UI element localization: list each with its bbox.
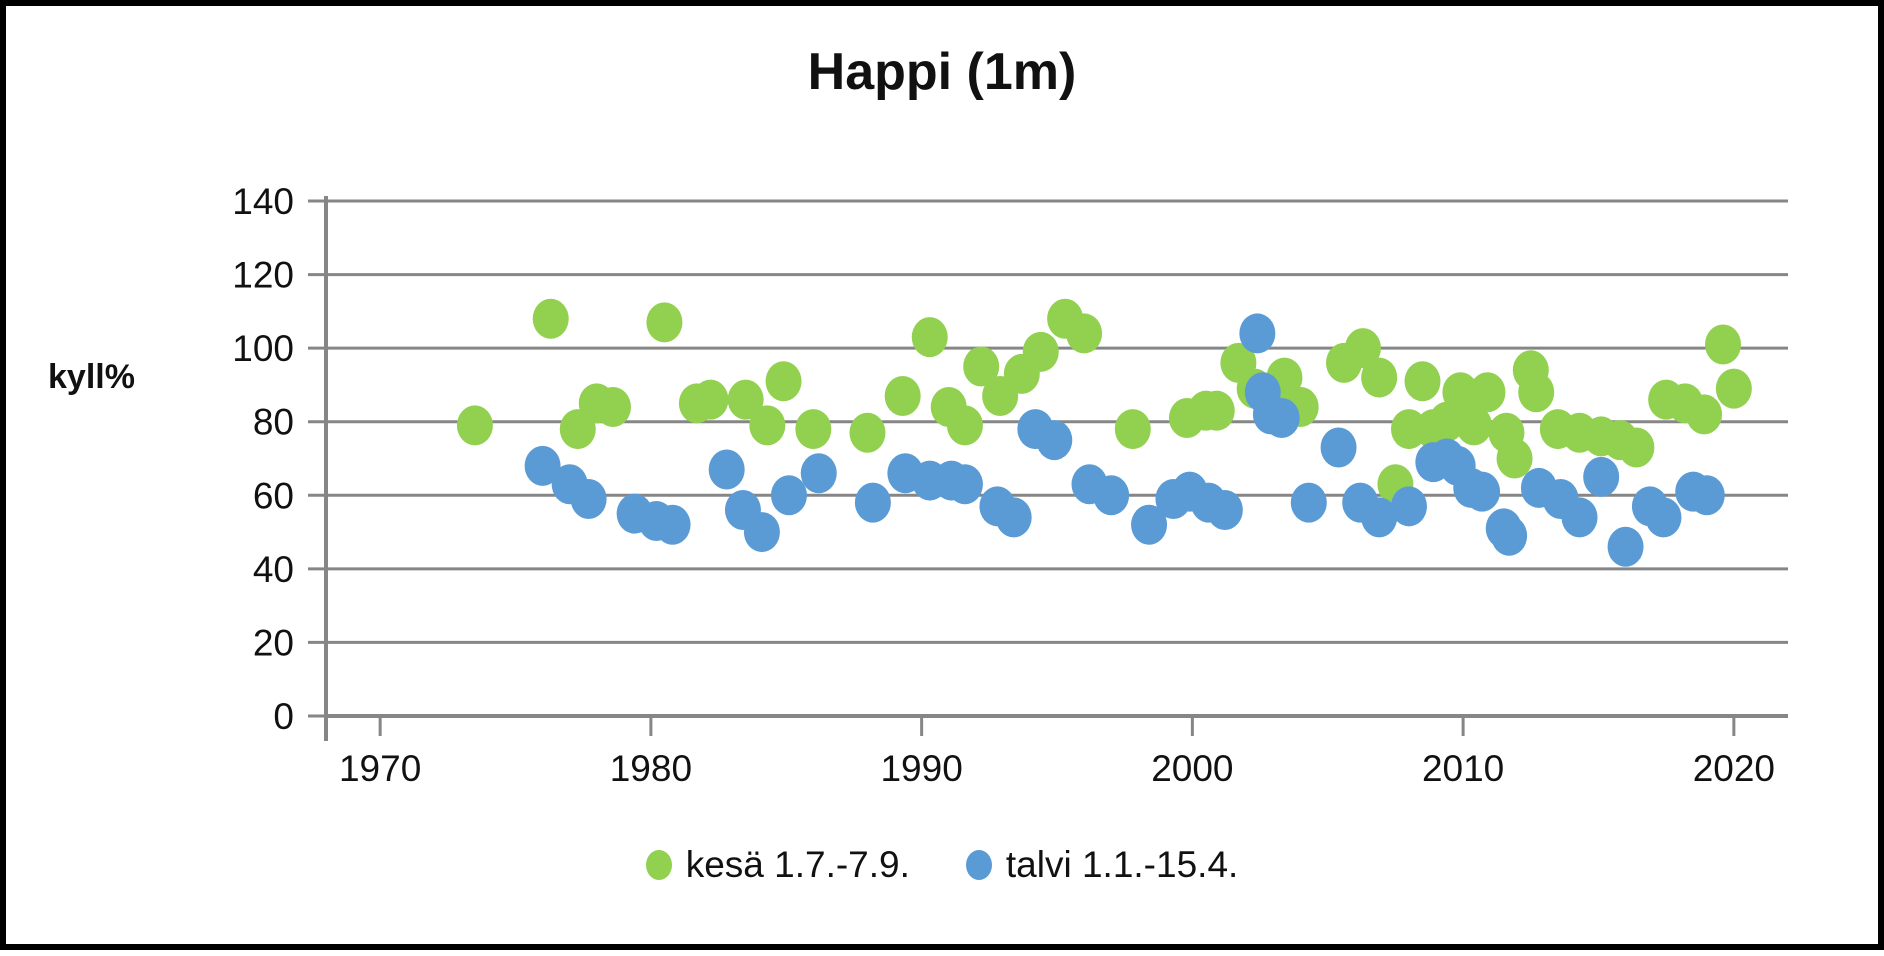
data-point [1093,475,1129,515]
data-point [1645,497,1681,537]
x-tick-labels: 197019801990200020102020 [339,748,1775,789]
legend-entry-kesa[interactable]: kesä 1.7.-7.9. [646,844,910,886]
data-point [947,405,983,445]
data-point [1405,361,1441,401]
data-point [1066,313,1102,353]
data-point [849,413,885,453]
data-point [709,450,745,490]
data-point [1321,427,1357,467]
x-tick-label-1970: 1970 [339,748,421,789]
data-point [1583,457,1619,497]
x-tick-label-2010: 2010 [1422,748,1504,789]
data-point [1239,313,1275,353]
data-point [1686,394,1722,434]
data-point [1562,497,1598,537]
legend-entry-talvi[interactable]: talvi 1.1.-15.4. [966,844,1238,886]
data-point [1361,358,1397,398]
data-point [1391,486,1427,526]
data-point [1497,439,1533,479]
y-tick-label-100: 100 [232,328,294,369]
data-point [1469,372,1505,412]
chart-container: Happi (1m) kyll% 020406080100120140 1970… [0,0,1884,950]
data-point [885,376,921,416]
data-point [1608,527,1644,567]
data-point [1036,420,1072,460]
y-tick-label-0: 0 [273,696,294,737]
x-tick-label-2020: 2020 [1693,748,1775,789]
data-point [912,317,948,357]
data-point [1291,483,1327,523]
data-point [1705,324,1741,364]
data-point [766,361,802,401]
data-point [801,453,837,493]
data-point [1464,472,1500,512]
data-point [771,475,807,515]
data-point [571,479,607,519]
y-tick-labels: 020406080100120140 [232,181,294,737]
x-tick-label-1990: 1990 [880,748,962,789]
x-axis [326,716,1788,736]
data-point [1491,516,1527,556]
x-tick-label-1980: 1980 [610,748,692,789]
data-point [1199,391,1235,431]
legend-label-talvi: talvi 1.1.-15.4. [1006,844,1238,886]
data-point [744,512,780,552]
data-point [595,387,631,427]
legend-marker-talvi-icon [966,850,992,880]
data-point [1023,332,1059,372]
data-point [749,405,785,445]
data-point [1618,427,1654,467]
data-point [646,302,682,342]
data-point [1518,372,1554,412]
data-point [855,483,891,523]
y-tick-label-80: 80 [253,402,294,443]
data-point [947,464,983,504]
data-point [1264,398,1300,438]
scatter-plot-area: 020406080100120140 197019801990200020102… [6,6,1884,956]
x-tick-label-2000: 2000 [1151,748,1233,789]
chart-legend: kesä 1.7.-7.9. talvi 1.1.-15.4. [6,844,1878,886]
data-point [1207,490,1243,530]
data-point [692,380,728,420]
data-points [457,299,1752,567]
y-tick-label-60: 60 [253,475,294,516]
data-point [457,405,493,445]
data-point [1689,475,1725,515]
y-axis [308,196,326,741]
y-tick-label-20: 20 [253,622,294,663]
y-tick-label-120: 120 [232,255,294,296]
data-point [996,497,1032,537]
data-point [1115,409,1151,449]
data-point [533,299,569,339]
data-point [795,409,831,449]
legend-marker-kesa-icon [646,850,672,880]
y-tick-label-140: 140 [232,181,294,222]
legend-label-kesa: kesä 1.7.-7.9. [686,844,910,886]
data-point [655,505,691,545]
y-tick-label-40: 40 [253,549,294,590]
data-point [1716,369,1752,409]
